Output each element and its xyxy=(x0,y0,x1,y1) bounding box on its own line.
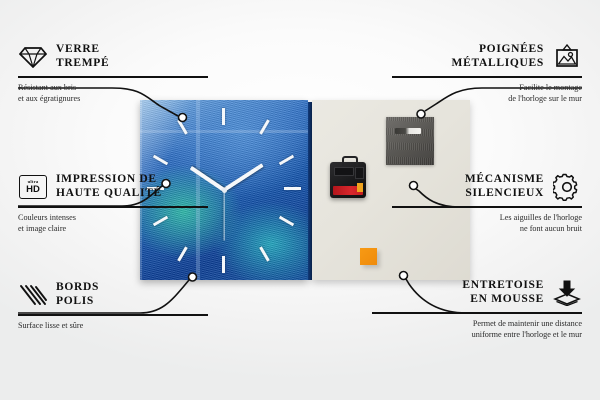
ultra-hd-badge-icon: ultra HD xyxy=(18,172,48,202)
foam-spacer xyxy=(360,248,377,265)
divider xyxy=(18,76,208,78)
feature-title: ENTRETOISE EN MOUSSE xyxy=(462,279,544,306)
feature-header: MÉCANISME SILENCIEUX xyxy=(392,172,582,202)
feature-header: ENTRETOISE EN MOUSSE xyxy=(372,278,582,308)
feature-title: MÉCANISME SILENCIEUX xyxy=(465,173,544,200)
foam-spacer-icon xyxy=(552,278,582,308)
feature-description: Surface lisse et sûre xyxy=(18,320,208,331)
feature-description: Les aiguilles de l'horloge ne font aucun… xyxy=(392,212,582,235)
movement-switch xyxy=(355,167,364,179)
metal-hanger-plate xyxy=(386,117,434,165)
movement-panel xyxy=(334,167,354,176)
divider xyxy=(392,206,582,208)
feature-poignees-metalliques: POIGNÉES MÉTALLIQUES Facilite le montage… xyxy=(392,42,582,104)
feature-impression-haute-qualite: ultra HD IMPRESSION DE HAUTE QUALITÉ Cou… xyxy=(18,172,208,234)
feature-header: VERRE TREMPÉ xyxy=(18,42,208,72)
divider xyxy=(372,312,582,314)
feature-title: POIGNÉES MÉTALLIQUES xyxy=(452,43,544,70)
divider xyxy=(392,76,582,78)
hanger-slot xyxy=(395,128,421,134)
quartz-movement xyxy=(330,162,366,198)
picture-hanger-icon xyxy=(552,42,582,72)
feature-description: Couleurs intenses et image claire xyxy=(18,212,208,235)
clock-hand-pivot xyxy=(222,188,227,193)
feature-description: Facilite le montage de l'horloge sur le … xyxy=(392,82,582,105)
feature-header: POIGNÉES MÉTALLIQUES xyxy=(392,42,582,72)
battery xyxy=(333,186,363,195)
feature-title: IMPRESSION DE HAUTE QUALITÉ xyxy=(56,173,162,200)
feature-title: VERRE TREMPÉ xyxy=(56,43,109,70)
diamond-icon xyxy=(18,42,48,72)
feature-header: ultra HD IMPRESSION DE HAUTE QUALITÉ xyxy=(18,172,208,202)
feature-verre-trempe: VERRE TREMPÉ Résistant aux bris et aux é… xyxy=(18,42,208,104)
feature-header: BORDS POLIS xyxy=(18,280,208,310)
feature-mecanisme-silencieux: MÉCANISME SILENCIEUX Les aiguilles de l'… xyxy=(392,172,582,234)
gear-icon xyxy=(552,172,582,202)
feature-description: Permet de maintenir une distance uniform… xyxy=(372,318,582,341)
feature-bords-polis: BORDS POLIS Surface lisse et sûre xyxy=(18,280,208,331)
divider xyxy=(18,206,208,208)
clock-hand-second xyxy=(223,189,224,241)
polished-edges-icon xyxy=(18,280,48,310)
feature-entretoise-en-mousse: ENTRETOISE EN MOUSSE Permet de maintenir… xyxy=(372,278,582,340)
divider xyxy=(18,314,208,316)
battery-terminal xyxy=(357,183,363,192)
movement-hook xyxy=(342,156,358,166)
hd-badge-main-label: HD xyxy=(26,185,40,195)
product-infographic: VERRE TREMPÉ Résistant aux bris et aux é… xyxy=(0,0,600,400)
feature-title: BORDS POLIS xyxy=(56,281,99,308)
feature-description: Résistant aux bris et aux égratignures xyxy=(18,82,208,105)
